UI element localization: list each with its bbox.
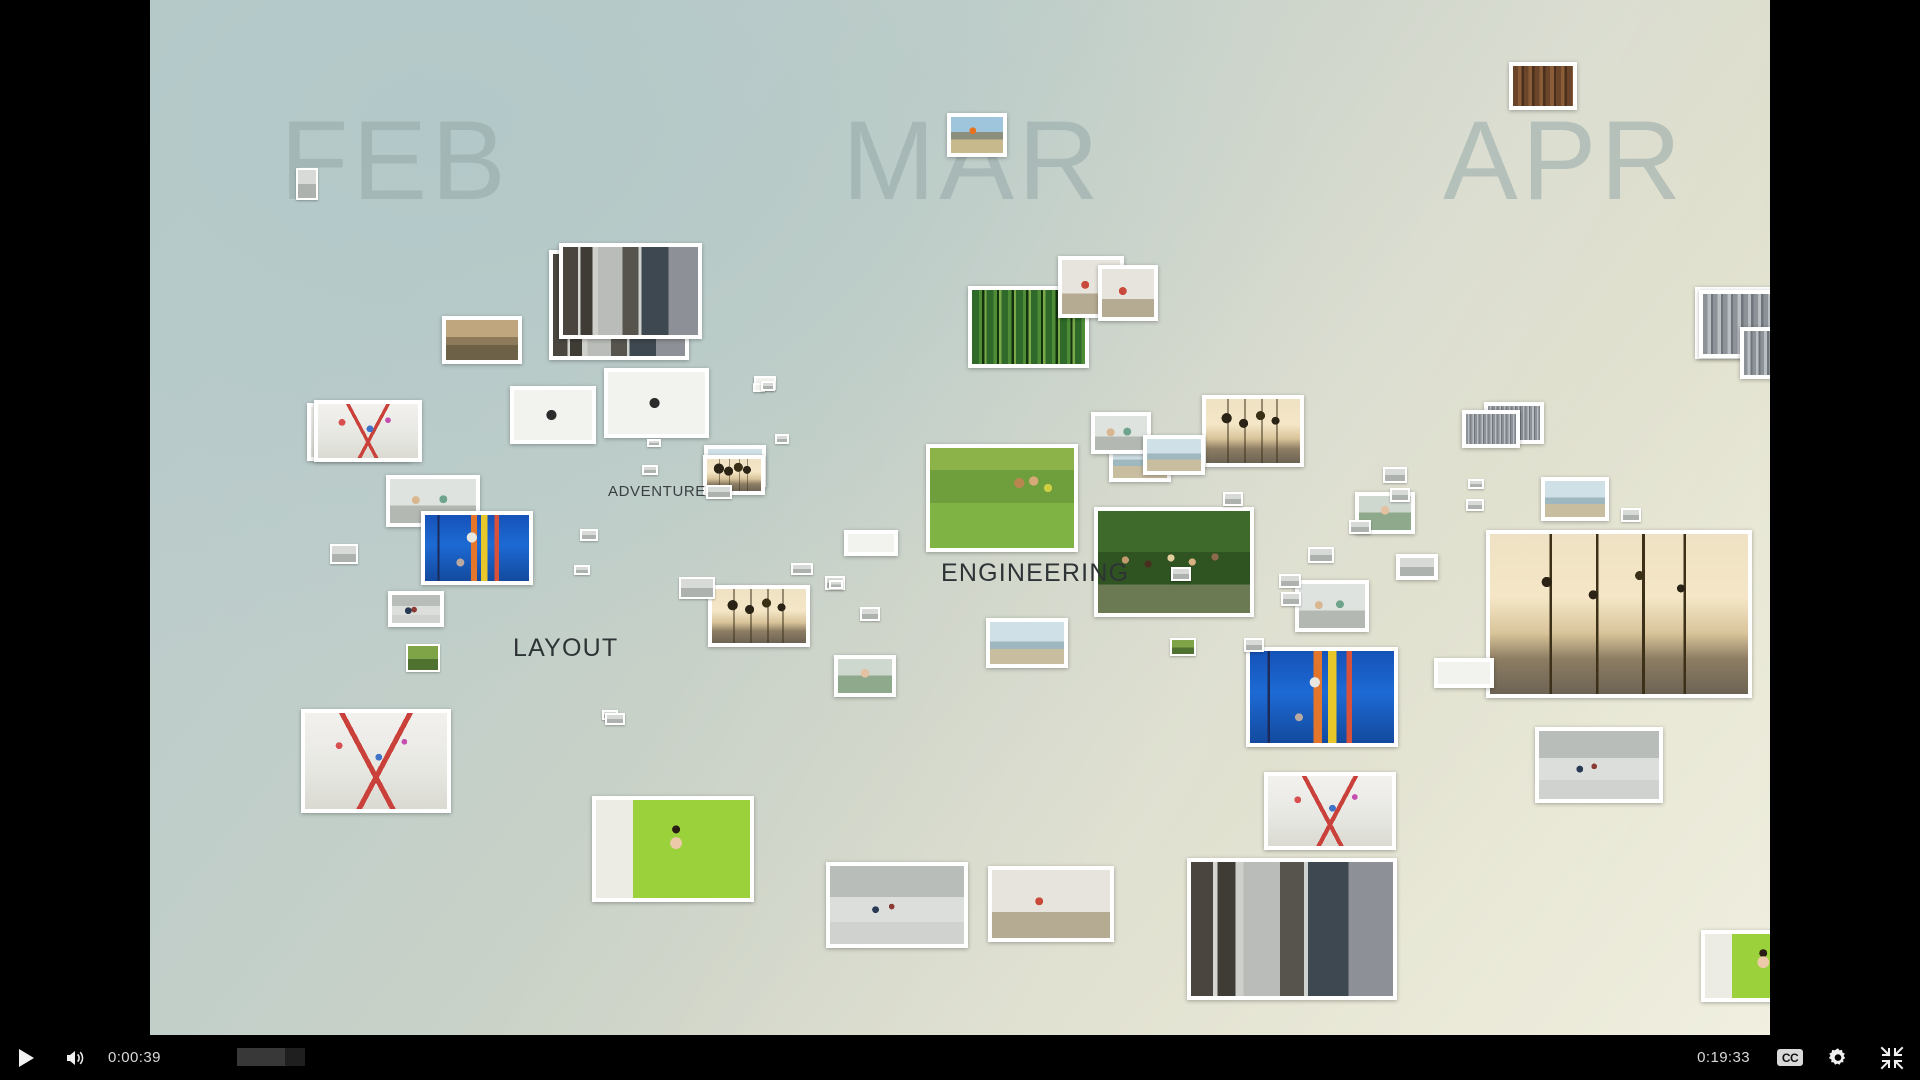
month-label-apr: APR bbox=[1443, 105, 1685, 217]
video-viewport[interactable]: FEBMARAPR LAYOUTENGINEERINGADVENTURE bbox=[150, 0, 1770, 1035]
photo-mini-10-image bbox=[1470, 481, 1482, 487]
photo-wood-carving-image bbox=[1513, 66, 1573, 106]
photo-tools-left[interactable] bbox=[301, 709, 451, 813]
photo-boat-dock[interactable] bbox=[986, 618, 1068, 668]
photo-bride-image bbox=[1299, 584, 1365, 628]
photo-tools-mid-image bbox=[1268, 776, 1392, 846]
video-player-root: FEBMARAPR LAYOUTENGINEERINGADVENTURE 0:0… bbox=[0, 0, 1920, 1080]
photo-blue-lab-big[interactable] bbox=[1246, 647, 1398, 747]
photo-city-towers[interactable] bbox=[559, 243, 702, 339]
photo-mini-19-image bbox=[793, 565, 811, 573]
photo-mini-25-image bbox=[831, 582, 841, 587]
photo-city-bottom[interactable] bbox=[1187, 858, 1397, 1000]
photo-mini-17[interactable] bbox=[1170, 638, 1196, 656]
photo-mini-23[interactable] bbox=[647, 439, 661, 447]
photo-snow-right-image bbox=[1539, 731, 1659, 799]
photo-blue-lab-big-image bbox=[1250, 651, 1394, 743]
photo-tools-left-image bbox=[305, 713, 447, 809]
photo-mini-26[interactable] bbox=[1223, 492, 1243, 506]
volume-button[interactable] bbox=[52, 1035, 98, 1080]
photo-mini-25[interactable] bbox=[829, 580, 843, 589]
photo-blue-lab-image bbox=[425, 515, 529, 581]
photo-mini-11[interactable] bbox=[1621, 508, 1641, 522]
photo-beach-sunset[interactable] bbox=[1486, 530, 1752, 698]
play-icon bbox=[19, 1049, 34, 1067]
photo-mini-6-image bbox=[862, 609, 878, 619]
month-label-feb: FEB bbox=[280, 105, 510, 217]
photo-mini-4[interactable] bbox=[679, 577, 715, 599]
photo-red-poster-image bbox=[1102, 269, 1154, 317]
photo-mini-7-image bbox=[1385, 469, 1405, 481]
photo-mini-15-image bbox=[1400, 558, 1434, 576]
photo-note-c[interactable] bbox=[1434, 658, 1494, 688]
play-button[interactable] bbox=[0, 1035, 52, 1080]
photo-lab-tools[interactable] bbox=[314, 400, 422, 462]
photo-flower-sketch-image bbox=[514, 390, 592, 440]
photo-desert-road[interactable] bbox=[442, 316, 522, 364]
photo-tiny-b-image bbox=[777, 436, 787, 442]
progress-bar[interactable] bbox=[167, 1035, 1691, 1080]
photo-harbor-two[interactable] bbox=[1740, 327, 1770, 379]
progress-buffer-primary bbox=[237, 1048, 285, 1066]
photo-palms-tall[interactable] bbox=[1202, 395, 1304, 467]
photo-edge-left[interactable] bbox=[296, 168, 318, 200]
photo-mini-14-image bbox=[1281, 576, 1299, 586]
photo-mini-1[interactable] bbox=[330, 544, 358, 564]
cc-icon: CC bbox=[1777, 1049, 1803, 1066]
photo-girl-dress[interactable] bbox=[834, 655, 896, 697]
photo-palm-sunset-sm-image bbox=[712, 589, 806, 643]
photo-mini-28-image bbox=[607, 715, 623, 723]
photo-child-right[interactable] bbox=[1701, 930, 1770, 1002]
photo-floral-art-image bbox=[608, 372, 705, 434]
photo-mini-13[interactable] bbox=[1171, 567, 1191, 581]
photo-harbor-two-image bbox=[1744, 331, 1770, 375]
photo-lab-tools-image bbox=[318, 404, 418, 458]
photo-mini-14[interactable] bbox=[1279, 574, 1301, 588]
photo-cyclist[interactable] bbox=[947, 113, 1007, 157]
photo-family-dog-image bbox=[930, 448, 1074, 548]
photo-red-art-image bbox=[992, 870, 1110, 938]
photo-mini-19[interactable] bbox=[791, 563, 813, 575]
photo-snow-kids-image bbox=[392, 595, 440, 623]
exit-fullscreen-button[interactable] bbox=[1864, 1035, 1920, 1080]
closed-captions-button[interactable]: CC bbox=[1768, 1035, 1812, 1080]
photo-mini-21[interactable] bbox=[761, 381, 775, 391]
photo-mini-2[interactable] bbox=[580, 529, 598, 541]
photo-snow-bottom[interactable] bbox=[826, 862, 968, 948]
photo-mini-18-image bbox=[1246, 640, 1262, 650]
settings-button[interactable] bbox=[1812, 1035, 1864, 1080]
photo-note-b-image bbox=[848, 534, 894, 552]
photo-blue-lab[interactable] bbox=[421, 511, 533, 585]
category-label-adventure: ADVENTURE bbox=[608, 484, 706, 499]
photo-mini-1-image bbox=[332, 546, 356, 562]
photo-palms-tall-image bbox=[1206, 399, 1300, 463]
photo-mini-23-image bbox=[649, 441, 659, 445]
photo-mini-4-image bbox=[681, 579, 713, 597]
photo-beach-horizon[interactable] bbox=[1143, 435, 1205, 475]
volume-icon bbox=[64, 1048, 86, 1068]
photo-floral-art[interactable] bbox=[604, 368, 709, 438]
photo-mini-20[interactable] bbox=[706, 485, 732, 499]
photo-city-bottom-image bbox=[1191, 862, 1393, 996]
photo-mini-28[interactable] bbox=[605, 713, 625, 725]
photo-park-people-image bbox=[1095, 416, 1147, 450]
photo-bride[interactable] bbox=[1295, 580, 1369, 632]
photo-mini-20-image bbox=[708, 487, 730, 497]
player-control-bar: 0:00:39 0:19:33 CC bbox=[0, 1035, 1920, 1080]
photo-mini-22[interactable] bbox=[642, 465, 658, 475]
photo-mini-18[interactable] bbox=[1244, 638, 1264, 652]
photo-child-green-image bbox=[596, 800, 750, 898]
photo-mini-27[interactable] bbox=[1466, 499, 1484, 511]
photo-beach-horizon-image bbox=[1147, 439, 1201, 471]
category-label-engineering: ENGINEERING bbox=[941, 561, 1129, 586]
photo-mini-16[interactable] bbox=[1281, 592, 1301, 606]
photo-green-patch-image bbox=[408, 646, 438, 670]
photo-wood-carving[interactable] bbox=[1509, 62, 1577, 110]
photo-cyclist-image bbox=[951, 117, 1003, 153]
photo-snow-right[interactable] bbox=[1535, 727, 1663, 803]
photo-tools-mid[interactable] bbox=[1264, 772, 1396, 850]
photo-mini-17-image bbox=[1172, 640, 1194, 654]
photo-family-dog[interactable] bbox=[926, 444, 1078, 552]
photo-red-art[interactable] bbox=[988, 866, 1114, 942]
photo-mini-7[interactable] bbox=[1383, 467, 1407, 483]
photo-green-patch[interactable] bbox=[406, 644, 440, 672]
photo-boat-dock-image bbox=[990, 622, 1064, 664]
photo-mini-12[interactable] bbox=[1308, 547, 1334, 563]
photo-desert-road-image bbox=[446, 320, 518, 360]
photo-mini-24[interactable] bbox=[574, 565, 590, 575]
photo-mini-21-image bbox=[763, 383, 773, 389]
photo-beach-sunset-image bbox=[1490, 534, 1748, 694]
photo-snow-bottom-image bbox=[830, 866, 964, 944]
photo-child-right-image bbox=[1705, 934, 1770, 998]
photo-note-b[interactable] bbox=[844, 530, 898, 556]
gear-icon bbox=[1826, 1046, 1850, 1070]
photo-mini-13-image bbox=[1173, 569, 1189, 579]
photo-mini-10[interactable] bbox=[1468, 479, 1484, 489]
photo-mini-9[interactable] bbox=[1349, 520, 1371, 534]
photo-mini-24-image bbox=[576, 567, 588, 573]
photo-mini-2-image bbox=[582, 531, 596, 539]
photo-child-green[interactable] bbox=[592, 796, 754, 902]
photo-tiny-b[interactable] bbox=[775, 434, 789, 444]
photo-mini-26-image bbox=[1225, 494, 1241, 504]
photo-pier-dusk-image bbox=[1545, 481, 1605, 517]
photo-flower-sketch[interactable] bbox=[510, 386, 596, 444]
photo-note-c-image bbox=[1438, 662, 1490, 684]
photo-city-towers-image bbox=[563, 247, 698, 335]
photo-snow-kids[interactable] bbox=[388, 591, 444, 627]
photo-mini-9-image bbox=[1351, 522, 1369, 532]
photo-red-poster[interactable] bbox=[1098, 265, 1158, 321]
photo-mini-22-image bbox=[644, 467, 656, 473]
photo-mini-11-image bbox=[1623, 510, 1639, 520]
photo-girl-dress-image bbox=[838, 659, 892, 693]
photo-park-people[interactable] bbox=[1091, 412, 1151, 454]
photo-mini-12-image bbox=[1310, 549, 1332, 561]
photo-pier-dusk[interactable] bbox=[1541, 477, 1609, 521]
category-label-layout: LAYOUT bbox=[513, 636, 618, 661]
photo-mini-8[interactable] bbox=[1390, 488, 1410, 502]
photo-mini-15[interactable] bbox=[1396, 554, 1438, 580]
photo-mini-8-image bbox=[1392, 490, 1408, 500]
current-time-label: 0:00:39 bbox=[108, 1049, 161, 1066]
photo-pier-wide[interactable] bbox=[1462, 410, 1520, 448]
photo-palm-sunset-sm[interactable] bbox=[708, 585, 810, 647]
photo-mini-16-image bbox=[1283, 594, 1299, 604]
photo-mini-27-image bbox=[1468, 501, 1482, 509]
exit-fullscreen-icon bbox=[1880, 1046, 1904, 1070]
photo-edge-left-image bbox=[298, 170, 316, 198]
photo-mini-6[interactable] bbox=[860, 607, 880, 621]
progress-buffer-secondary bbox=[285, 1048, 305, 1066]
total-time-label: 0:19:33 bbox=[1697, 1049, 1750, 1066]
photo-pier-wide-image bbox=[1466, 414, 1516, 444]
